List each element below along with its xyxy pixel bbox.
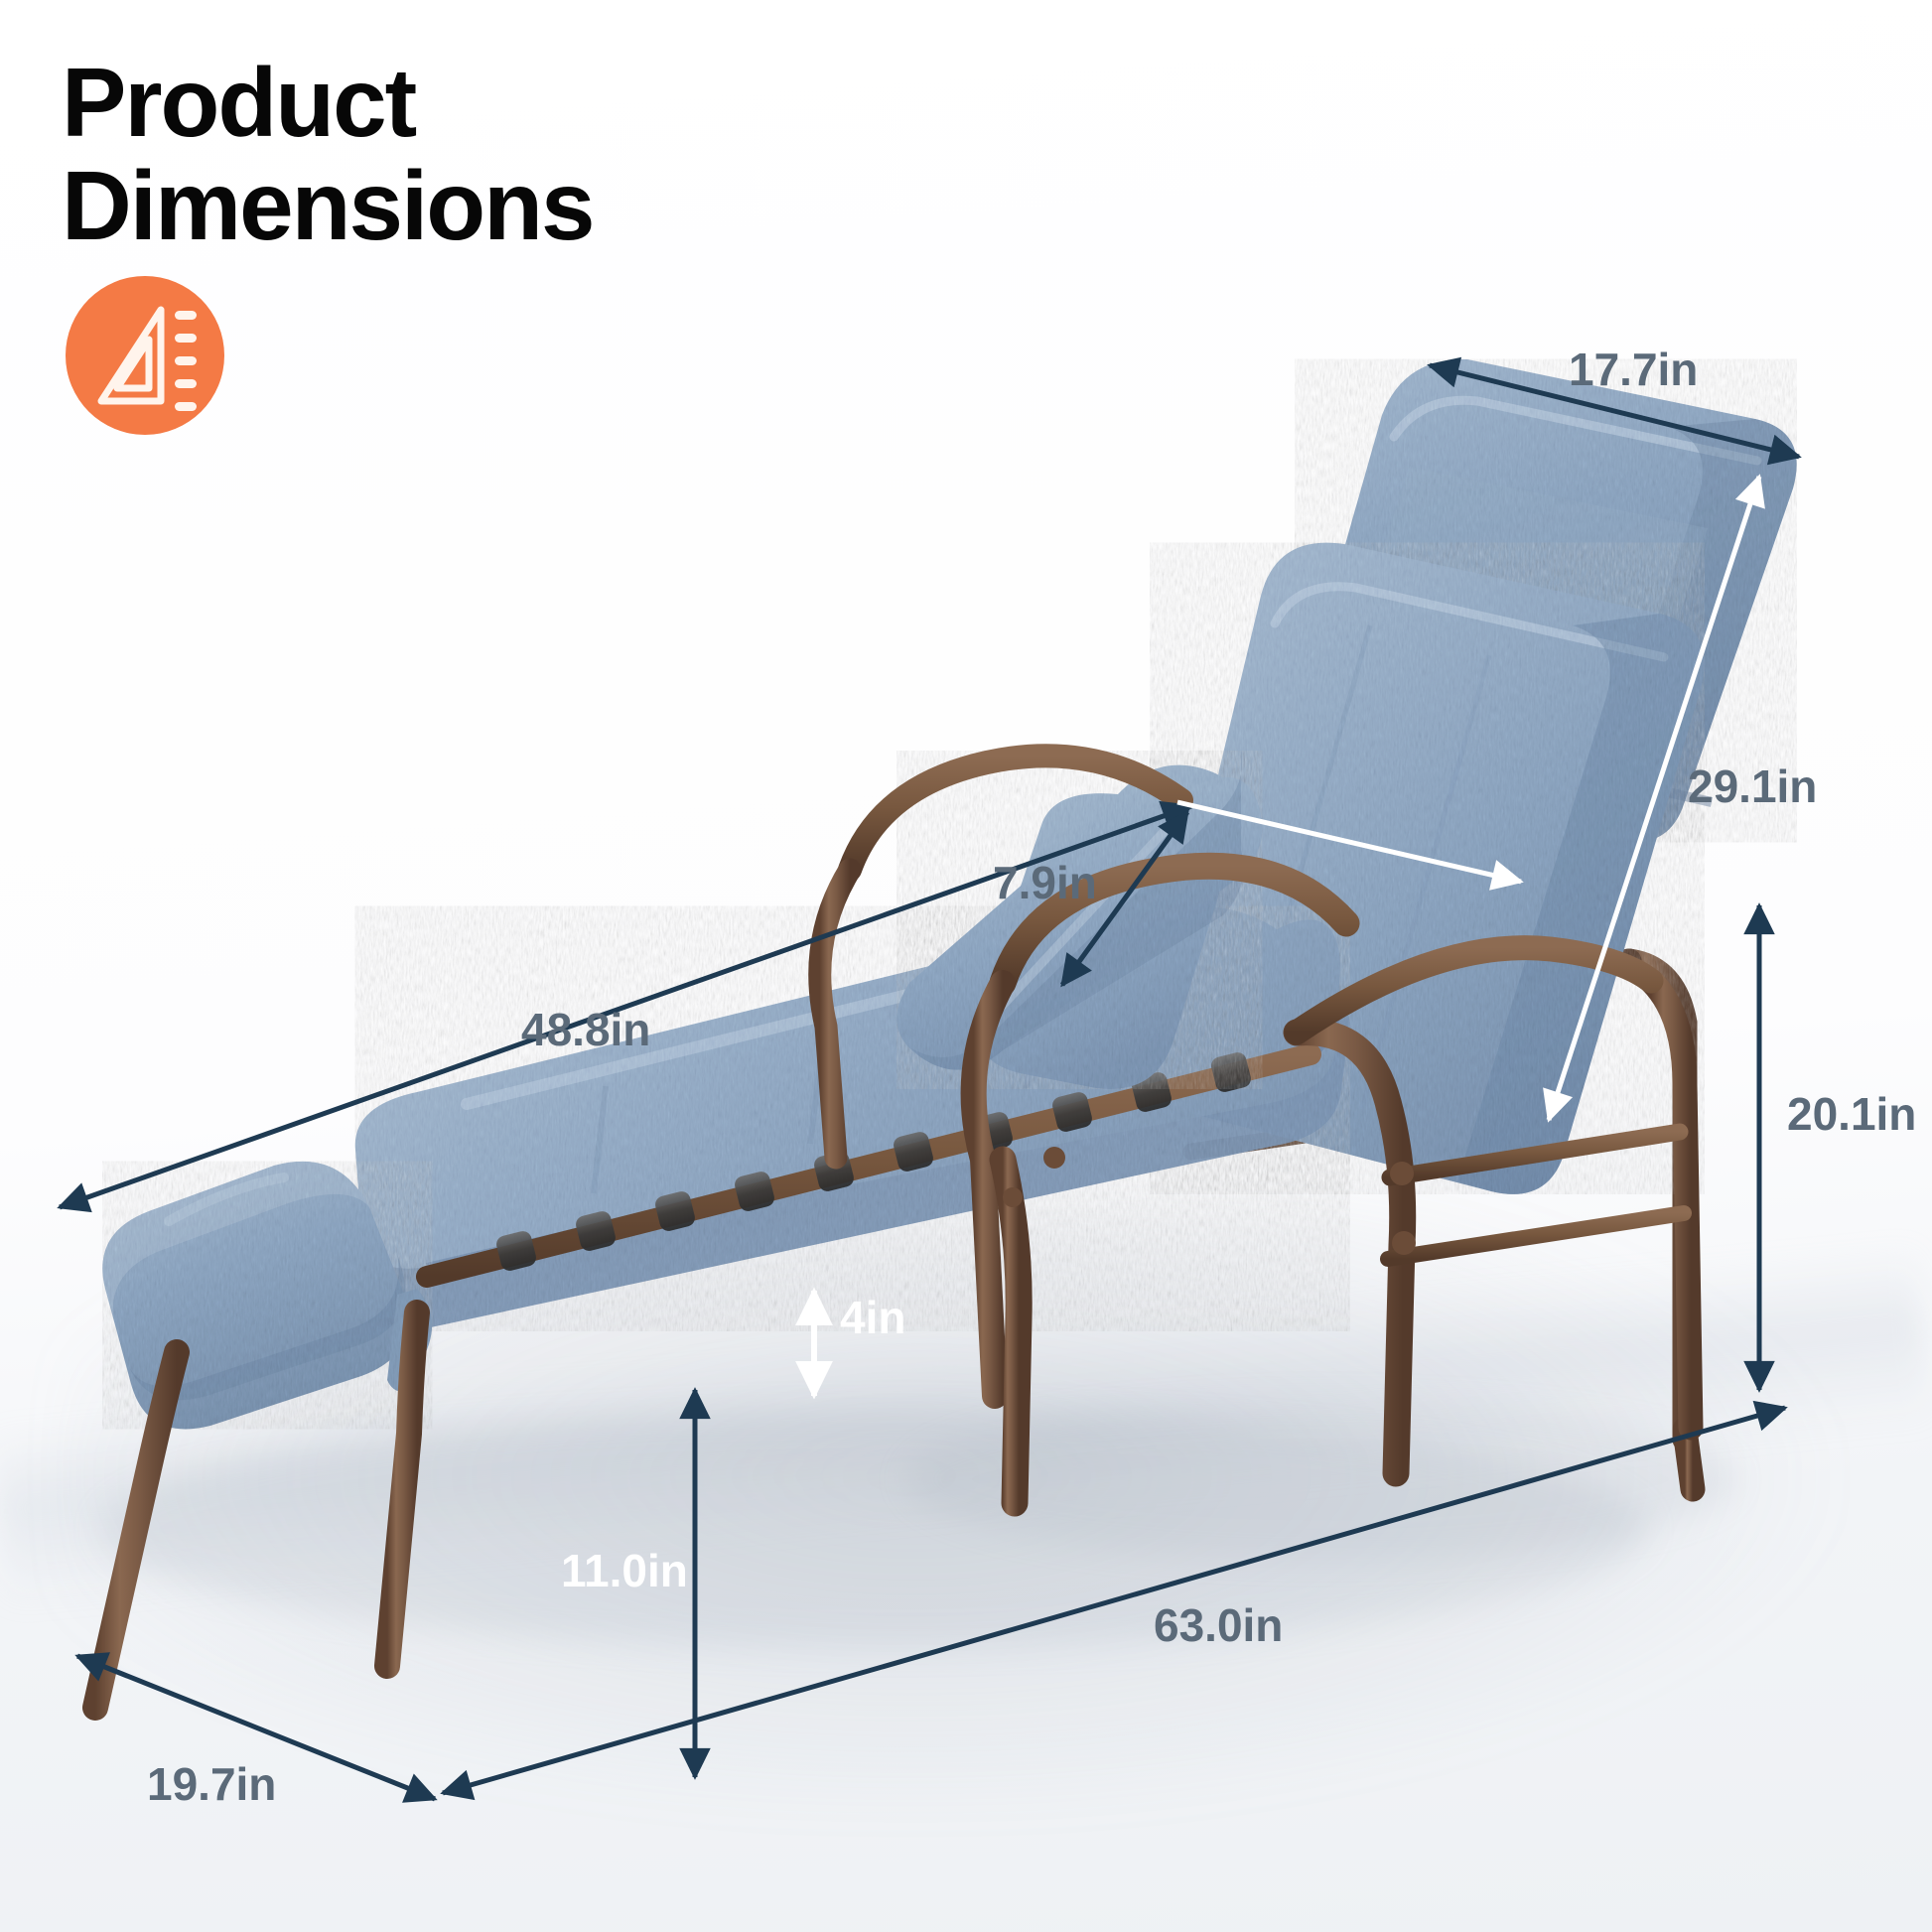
dimension-label-4in: 4in [840, 1291, 905, 1344]
dimensions-badge [66, 276, 224, 435]
page-title: Product Dimensions [62, 52, 593, 258]
dimension-label-48-8in: 48.8in [521, 1003, 650, 1056]
dimension-label-63-0in: 63.0in [1154, 1598, 1283, 1652]
ruler-triangle-icon [66, 276, 224, 435]
page-title-line-2: Dimensions [62, 155, 593, 258]
dimension-label-7-9in: 7.9in [993, 856, 1097, 909]
dimension-label-20-1in: 20.1in [1787, 1087, 1916, 1141]
dimension-label-19-7in: 19.7in [147, 1757, 276, 1811]
dimension-label-17-7in: 17.7in [1569, 343, 1698, 396]
product-dimensions-infographic: Product Dimensions [0, 0, 1932, 1932]
dimension-label-29-1in: 29.1in [1688, 759, 1817, 813]
page-title-line-1: Product [62, 52, 593, 155]
chaise-lounge-product-image [0, 0, 1932, 1932]
dimension-label-11-0in: 11.0in [561, 1544, 688, 1597]
